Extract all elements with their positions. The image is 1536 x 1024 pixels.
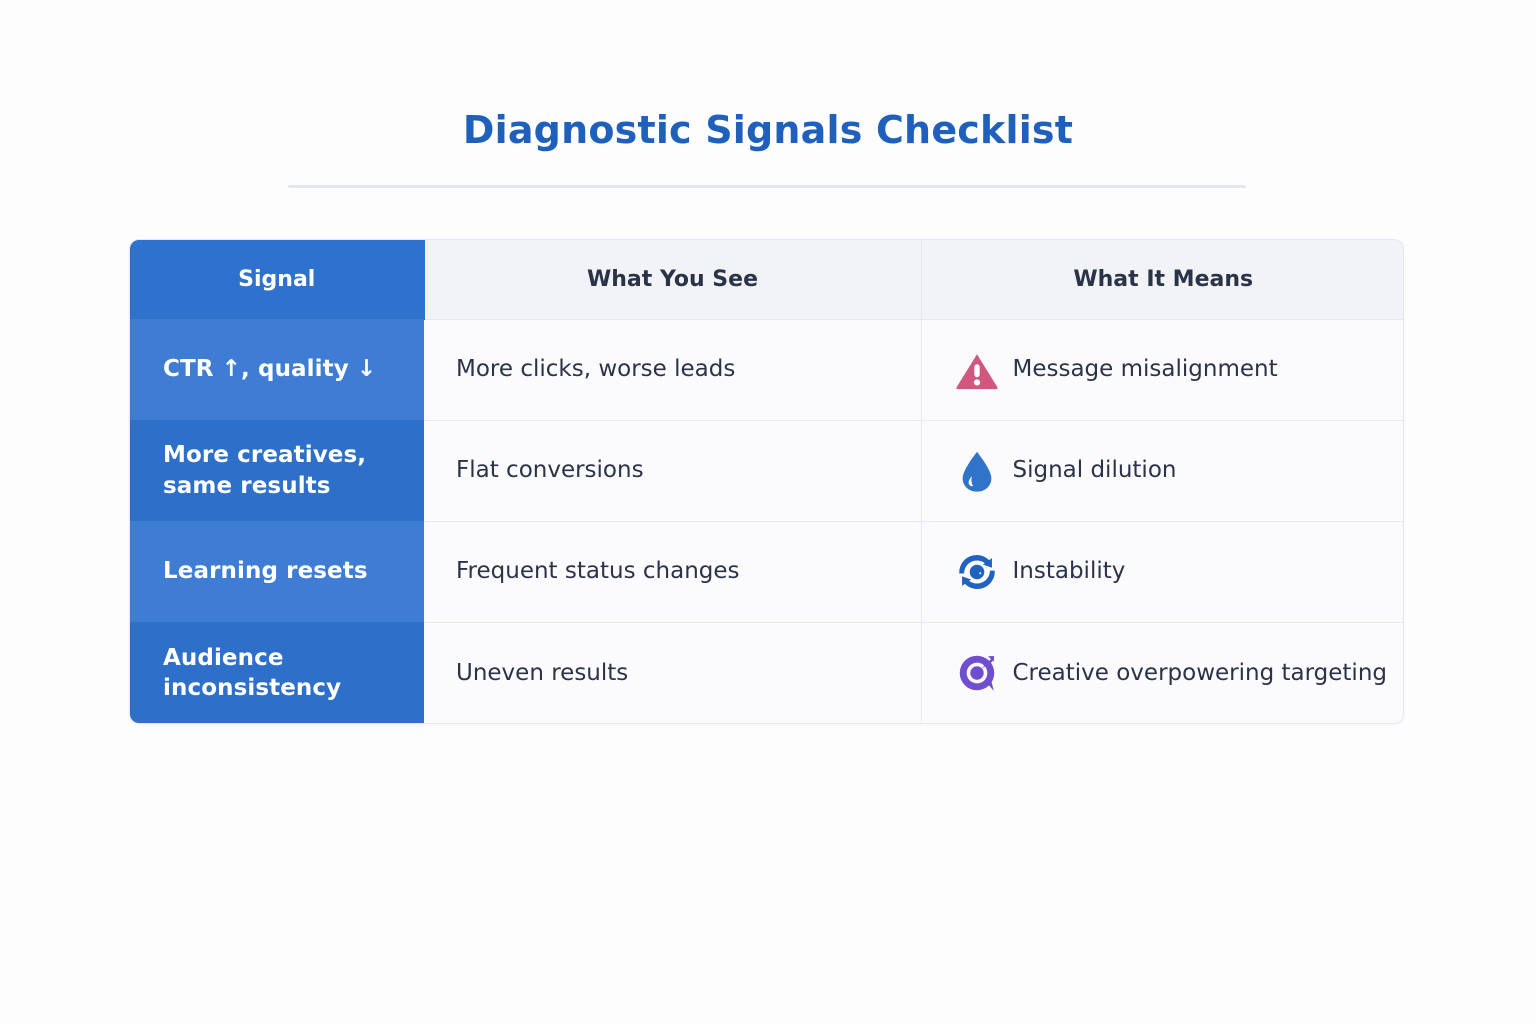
table-header: Signal What You See What It Means bbox=[130, 240, 1404, 319]
table-row: Learning resets Frequent status changes bbox=[130, 521, 1404, 622]
cell-signal: More creatives, same results bbox=[130, 420, 424, 521]
column-header-signal: Signal bbox=[130, 240, 424, 319]
table-body: CTR ↑, quality ↓ More clicks, worse lead… bbox=[130, 319, 1404, 724]
cell-signal: Learning resets bbox=[130, 521, 424, 622]
water-droplet-icon bbox=[954, 448, 1000, 494]
checklist-table-container: Signal What You See What It Means CTR ↑,… bbox=[129, 239, 1404, 724]
means-inner: Creative overpowering targeting bbox=[954, 650, 1388, 696]
table-header-row: Signal What You See What It Means bbox=[130, 240, 1404, 319]
cell-what-you-see: Uneven results bbox=[424, 622, 921, 724]
cell-signal: Audience inconsistency bbox=[130, 622, 424, 724]
cell-what-it-means: Creative overpowering targeting bbox=[921, 622, 1404, 724]
cell-what-you-see: Flat conversions bbox=[424, 420, 921, 521]
cell-what-it-means: Instability bbox=[921, 521, 1404, 622]
means-label: Instability bbox=[1013, 556, 1126, 586]
means-inner: Message misalignment bbox=[954, 347, 1388, 393]
means-label: Creative overpowering targeting bbox=[1013, 658, 1388, 688]
title-block: Diagnostic Signals Checklist bbox=[0, 108, 1536, 153]
means-label: Signal dilution bbox=[1013, 455, 1177, 485]
target-arrow-icon bbox=[954, 650, 1000, 696]
means-inner: Instability bbox=[954, 549, 1388, 595]
table-row: More creatives, same results Flat conver… bbox=[130, 420, 1404, 521]
cell-signal: CTR ↑, quality ↓ bbox=[130, 319, 424, 420]
cell-what-it-means: Message misalignment bbox=[921, 319, 1404, 420]
refresh-sync-icon bbox=[954, 549, 1000, 595]
title-divider bbox=[288, 185, 1246, 188]
table-row: CTR ↑, quality ↓ More clicks, worse lead… bbox=[130, 319, 1404, 420]
column-header-what-you-see: What You See bbox=[424, 240, 921, 319]
cell-what-you-see: Frequent status changes bbox=[424, 521, 921, 622]
warning-triangle-icon bbox=[954, 347, 1000, 393]
cell-what-it-means: Signal dilution bbox=[921, 420, 1404, 521]
table-row: Audience inconsistency Uneven results bbox=[130, 622, 1404, 724]
page-root: Diagnostic Signals Checklist Signal What… bbox=[0, 0, 1536, 1024]
checklist-table: Signal What You See What It Means CTR ↑,… bbox=[130, 240, 1404, 724]
means-label: Message misalignment bbox=[1013, 354, 1278, 384]
means-inner: Signal dilution bbox=[954, 448, 1388, 494]
column-header-what-it-means: What It Means bbox=[921, 240, 1404, 319]
page-title: Diagnostic Signals Checklist bbox=[0, 108, 1536, 153]
cell-what-you-see: More clicks, worse leads bbox=[424, 319, 921, 420]
